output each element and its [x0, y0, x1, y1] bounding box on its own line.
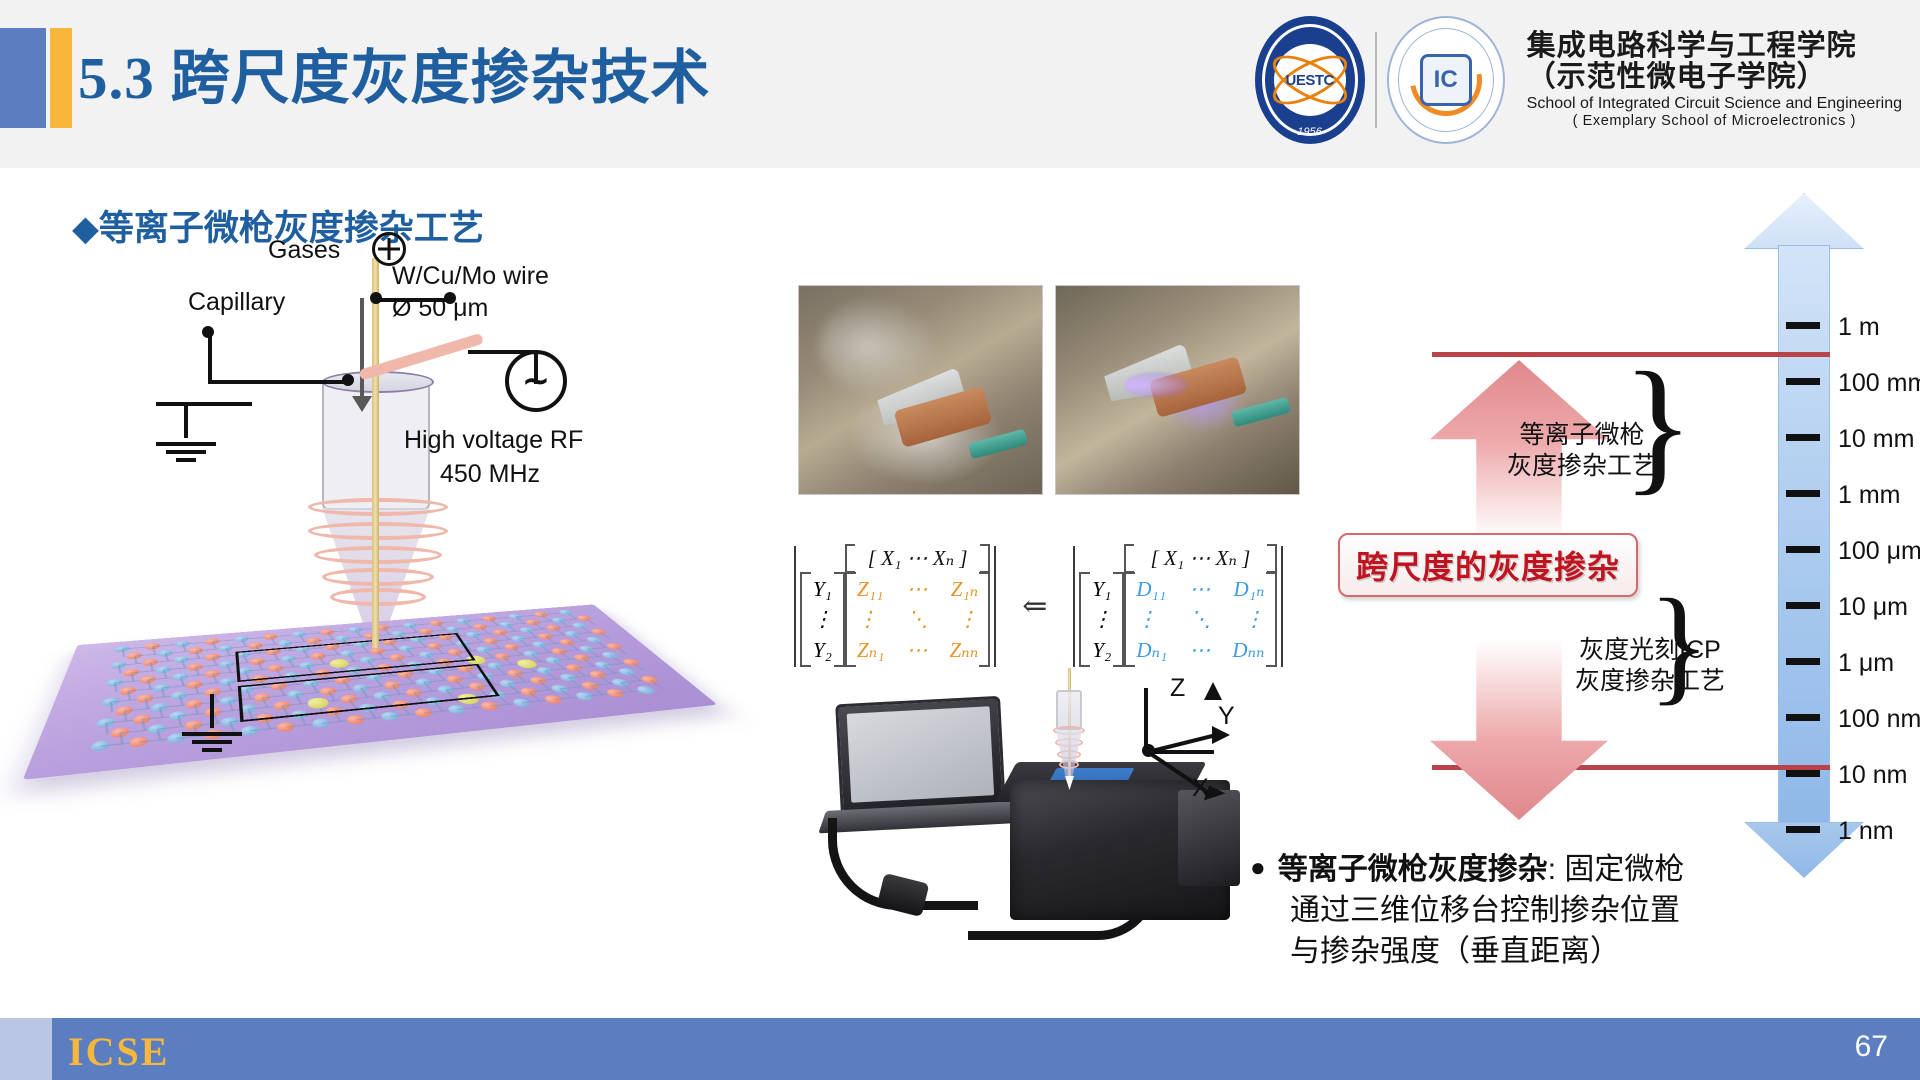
scale-tick-mark: [1786, 658, 1820, 665]
school-name-cn-line2: （示范性微电子学院）: [1527, 62, 1902, 93]
note-upper-line2: 灰度掺杂工艺: [1507, 451, 1657, 482]
y-label: Y₂: [812, 635, 833, 665]
scale-tick-label: 100 μm: [1838, 537, 1920, 566]
d-matrix: D₁₁ ⋯ D₁ₙ ⋮ ⋱ ⋮ Dₙ₁ ⋯ Dₙₙ: [1124, 572, 1276, 667]
leader-line: [378, 298, 452, 302]
scale-tick-label: 1 mm: [1838, 481, 1901, 510]
slide-root: 5.3 跨尺度灰度掺杂技术 UESTC 1956 IC 集成电路科学与工程学院 …: [0, 0, 1920, 1080]
laptop-computer: [835, 696, 1006, 816]
z-matrix: Z₁₁ ⋯ Z₁ₙ ⋮ ⋱ ⋮ Zₙ₁ ⋯ Zₙₙ: [845, 572, 990, 667]
cell: Dₙₙ: [1232, 635, 1264, 665]
matrix-row: Dₙ₁ ⋯ Dₙₙ: [1136, 635, 1264, 665]
school-name-en-line1: School of Integrated Circuit Science and…: [1527, 95, 1902, 113]
cell: D₁₁: [1136, 574, 1166, 604]
y-vector-right: Y₁ ⋮ Y₂: [1079, 572, 1124, 667]
matrix-row: ⋮ ⋱ ⋮: [1136, 604, 1264, 634]
label-wire-line1: W/Cu/Mo wire: [392, 262, 549, 291]
cell: Dₙ₁: [1136, 635, 1167, 665]
scale-tick-label: 1 nm: [1838, 817, 1894, 846]
note-upper: 等离子微枪 灰度掺杂工艺: [1507, 420, 1657, 483]
school-name-block: 集成电路科学与工程学院 （示范性微电子学院） School of Integra…: [1527, 31, 1902, 129]
scale-tick-label: 100 nm: [1838, 705, 1920, 734]
note-lower-line1: 灰度光刻ICP: [1575, 635, 1725, 666]
y-label: Y₁: [1091, 574, 1112, 604]
uestc-logo-year: 1956: [1255, 126, 1365, 138]
title-text: 跨尺度灰度掺杂技术: [171, 45, 711, 111]
scale-tick-mark: [1786, 490, 1820, 497]
cell: Zₙ₁: [857, 635, 885, 665]
scale-tick-mark: [1786, 602, 1820, 609]
rf-source-icon: ∼: [505, 350, 567, 412]
scale-arrow-head-up: [1744, 193, 1864, 249]
label-capillary: Capillary: [188, 288, 285, 317]
axis-label-y: Y: [1218, 702, 1235, 731]
implication-arrow-icon: ⇐: [1018, 589, 1051, 624]
cell: ⋮: [1244, 604, 1265, 634]
note-lower-line2: 灰度掺杂工艺: [1575, 666, 1725, 697]
ground-symbol-icon: [182, 728, 242, 752]
plasma-microgun-illustration: Gases Capillary W/Cu/Mo wire Ø 50 μm Hig…: [60, 250, 680, 810]
ic-logo-text: IC: [1420, 54, 1472, 106]
scale-tick-mark: [1786, 434, 1820, 441]
bullet-line2: 通过三维位移台控制掺杂位置: [1290, 891, 1810, 932]
page-number: 67: [1855, 1030, 1888, 1064]
outer-norm-bar: [994, 546, 996, 667]
scale-tick-label: 100 mm: [1838, 369, 1920, 398]
uestc-logo-inner: UESTC: [1274, 44, 1346, 116]
label-rf-line2: 450 MHz: [440, 460, 540, 489]
school-name-cn-line1: 集成电路科学与工程学院: [1527, 31, 1902, 61]
logo-divider: [1375, 32, 1377, 128]
doped-atom: [515, 659, 540, 669]
ground-symbol-icon: [156, 438, 216, 462]
title-accent-bar-blue: [0, 28, 46, 128]
cell: ⋱: [907, 604, 928, 634]
equation-left-side: Y₁ ⋮ Y₂ [ X₁ ⋯ Xₙ ] Z₁₁ ⋯ Z₁ₙ ⋮ ⋱: [790, 546, 1000, 667]
bullet-text-block: ● 等离子微枪灰度掺杂: 固定微枪 通过三维位移台控制掺杂位置 与掺杂强度（垂直…: [1250, 850, 1810, 972]
right-matrix-column: [ X₁ ⋯ Xₙ ] D₁₁ ⋯ D₁ₙ ⋮ ⋱ ⋮ Dₙ₁ ⋯: [1124, 546, 1276, 667]
y-label: Y₂: [1091, 635, 1112, 665]
y-vector-left: Y₁ ⋮ Y₂: [800, 572, 845, 667]
scale-tick-label: 10 mm: [1838, 425, 1914, 454]
bullet-first-row: ● 等离子微枪灰度掺杂: 固定微枪: [1250, 850, 1810, 891]
scale-tick-mark: [1786, 770, 1820, 777]
uestc-logo-text: UESTC: [1285, 72, 1333, 89]
metal-wire: [372, 258, 379, 648]
leader-dot: [342, 374, 354, 386]
footer-accent: [0, 1018, 52, 1080]
title-number: 5.3: [78, 45, 155, 111]
cell: ⋮: [957, 604, 978, 634]
note-upper-line1: 等离子微枪: [1507, 420, 1657, 451]
left-matrix-column: [ X₁ ⋯ Xₙ ] Z₁₁ ⋯ Z₁ₙ ⋮ ⋱ ⋮ Zₙ₁ ⋯: [845, 546, 990, 667]
scale-tick-mark: [1786, 546, 1820, 553]
cross-scale-highlight-box: 跨尺度的灰度掺杂: [1338, 533, 1638, 597]
scale-tick-mark: [1786, 378, 1820, 385]
equation-right-side: Y₁ ⋮ Y₂ [ X₁ ⋯ Xₙ ] D₁₁ ⋯ D₁ₙ ⋮ ⋱: [1069, 546, 1286, 667]
footer-logo: ICSE: [68, 1028, 169, 1075]
cell: Z₁ₙ: [951, 574, 979, 604]
scale-tick-label: 1 m: [1838, 313, 1880, 342]
outer-norm-bar: [1281, 546, 1283, 667]
photo-plasma-on: [1055, 285, 1300, 495]
cell: ⋱: [1190, 604, 1211, 634]
ic-school-logo-icon: IC: [1387, 16, 1505, 144]
outer-norm-bar: [1073, 546, 1075, 667]
x-header-left: [ X₁ ⋯ Xₙ ]: [845, 546, 990, 571]
xyz-axis-indicator: Z Y X: [1142, 686, 1282, 806]
matrix-row: ⋮ ⋱ ⋮: [857, 604, 978, 634]
ground-lead: [156, 402, 252, 406]
page-title: 5.3 跨尺度灰度掺杂技术: [78, 30, 711, 115]
footer-bar: [52, 1018, 1920, 1080]
matrix-row: Z₁₁ ⋯ Z₁ₙ: [857, 574, 978, 604]
axis-label-z: Z: [1170, 674, 1185, 703]
cell: D₁ₙ: [1234, 574, 1265, 604]
scale-tick-mark: [1786, 826, 1820, 833]
cell: Zₙₙ: [950, 635, 979, 665]
cell: ⋯: [906, 574, 927, 604]
matrix-row: Zₙ₁ ⋯ Zₙₙ: [857, 635, 978, 665]
cell: ⋯: [1189, 574, 1210, 604]
title-accent-bar-gold: [50, 28, 72, 128]
note-lower: 灰度光刻ICP 灰度掺杂工艺: [1575, 635, 1725, 698]
y-ellipsis: ⋮: [1091, 604, 1112, 634]
photo-plasma-off: [798, 285, 1043, 495]
matrix-row: D₁₁ ⋯ D₁ₙ: [1136, 574, 1264, 604]
cell: ⋮: [857, 604, 878, 634]
right-vector-column: Y₁ ⋮ Y₂: [1079, 546, 1124, 667]
cross-scale-highlight-text: 跨尺度的灰度掺杂: [1356, 542, 1620, 588]
bullet-line3: 与掺杂强度（垂直距离）: [1290, 932, 1810, 973]
left-vector-column: Y₁ ⋮ Y₂: [800, 546, 845, 667]
scale-tick-label: 10 μm: [1838, 593, 1908, 622]
axis-label-x: X: [1192, 774, 1209, 803]
uestc-logo-icon: UESTC 1956: [1255, 16, 1365, 144]
scale-tick-mark: [1786, 714, 1820, 721]
cell: ⋯: [1189, 635, 1210, 665]
label-gases: Gases: [268, 236, 340, 265]
mounted-microgun: [1052, 690, 1086, 786]
y-ellipsis: ⋮: [812, 604, 833, 634]
cell: ⋮: [1136, 604, 1157, 634]
gas-flow-arrow-icon: [360, 298, 364, 398]
label-rf-line1: High voltage RF: [404, 426, 583, 455]
cell: ⋯: [907, 635, 928, 665]
positive-terminal-icon: [372, 232, 406, 266]
bullet-line1: 等离子微枪灰度掺杂: 固定微枪: [1278, 850, 1685, 891]
leader-line: [208, 380, 350, 384]
scale-bar: [1778, 245, 1830, 825]
bullet-marker-icon: ●: [1250, 850, 1266, 885]
school-name-en-line2: ( Exemplary School of Microelectronics ): [1527, 113, 1902, 129]
scale-tick-mark: [1786, 322, 1820, 329]
leader-line: [208, 332, 212, 384]
leader-dot: [444, 292, 456, 304]
bullet-line1-bold: 等离子微枪灰度掺杂: [1278, 853, 1548, 886]
leader-dot: [202, 326, 214, 338]
scale-tick-label: 1 μm: [1838, 649, 1894, 678]
x-header-right: [ X₁ ⋯ Xₙ ]: [1124, 546, 1276, 571]
outer-norm-bar: [794, 546, 796, 667]
lattice-atom: [634, 685, 656, 694]
logo-group: UESTC 1956 IC 集成电路科学与工程学院 （示范性微电子学院） Sch…: [1255, 10, 1902, 150]
cell: Z₁₁: [857, 574, 883, 604]
matrix-equation: Y₁ ⋮ Y₂ [ X₁ ⋯ Xₙ ] Z₁₁ ⋯ Z₁ₙ ⋮ ⋱: [790, 546, 1287, 667]
bullet-line1-rest: : 固定微枪: [1548, 853, 1685, 886]
y-label: Y₁: [812, 574, 833, 604]
leader-dot: [370, 292, 382, 304]
scale-tick-label: 10 nm: [1838, 761, 1907, 790]
